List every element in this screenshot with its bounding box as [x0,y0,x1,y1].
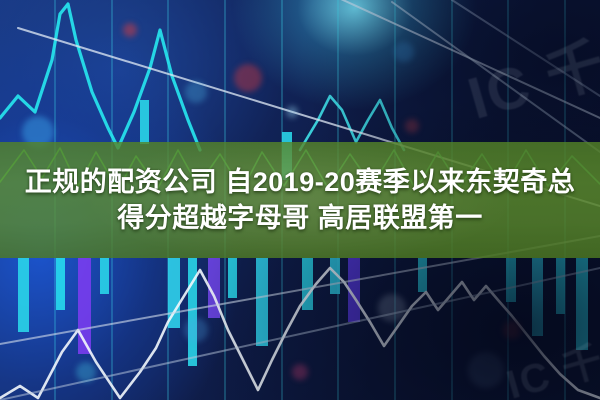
bokeh-dot [234,64,262,92]
headline-line-1: 正规的配资公司 自2019-20赛季以来东契奇总 [25,167,576,197]
bokeh-dot [405,119,419,133]
watermark-top-right: IC 千 [457,16,600,135]
bokeh-dot [185,81,207,103]
headline-line-2: 得分超越字母哥 高居联盟第一 [117,203,483,233]
bokeh-dot [292,364,308,380]
bokeh-dot [394,42,414,62]
stock-chart-banner: IC 千 IC 千 正规的配资公司 自2019-20赛季以来东契奇总 得分超越字… [0,0,600,400]
bokeh-dot [468,352,504,388]
watermark-bottom-right: IC 千 [499,327,600,400]
bokeh-dot [123,23,137,37]
bokeh-dot [378,294,406,322]
bokeh-dot [286,106,298,118]
headline-text-block: 正规的配资公司 自2019-20赛季以来东契奇总 得分超越字母哥 高居联盟第一 [0,142,600,258]
bokeh-dot [76,362,96,382]
bokeh-dot [184,318,208,342]
bokeh-dot [503,321,521,339]
